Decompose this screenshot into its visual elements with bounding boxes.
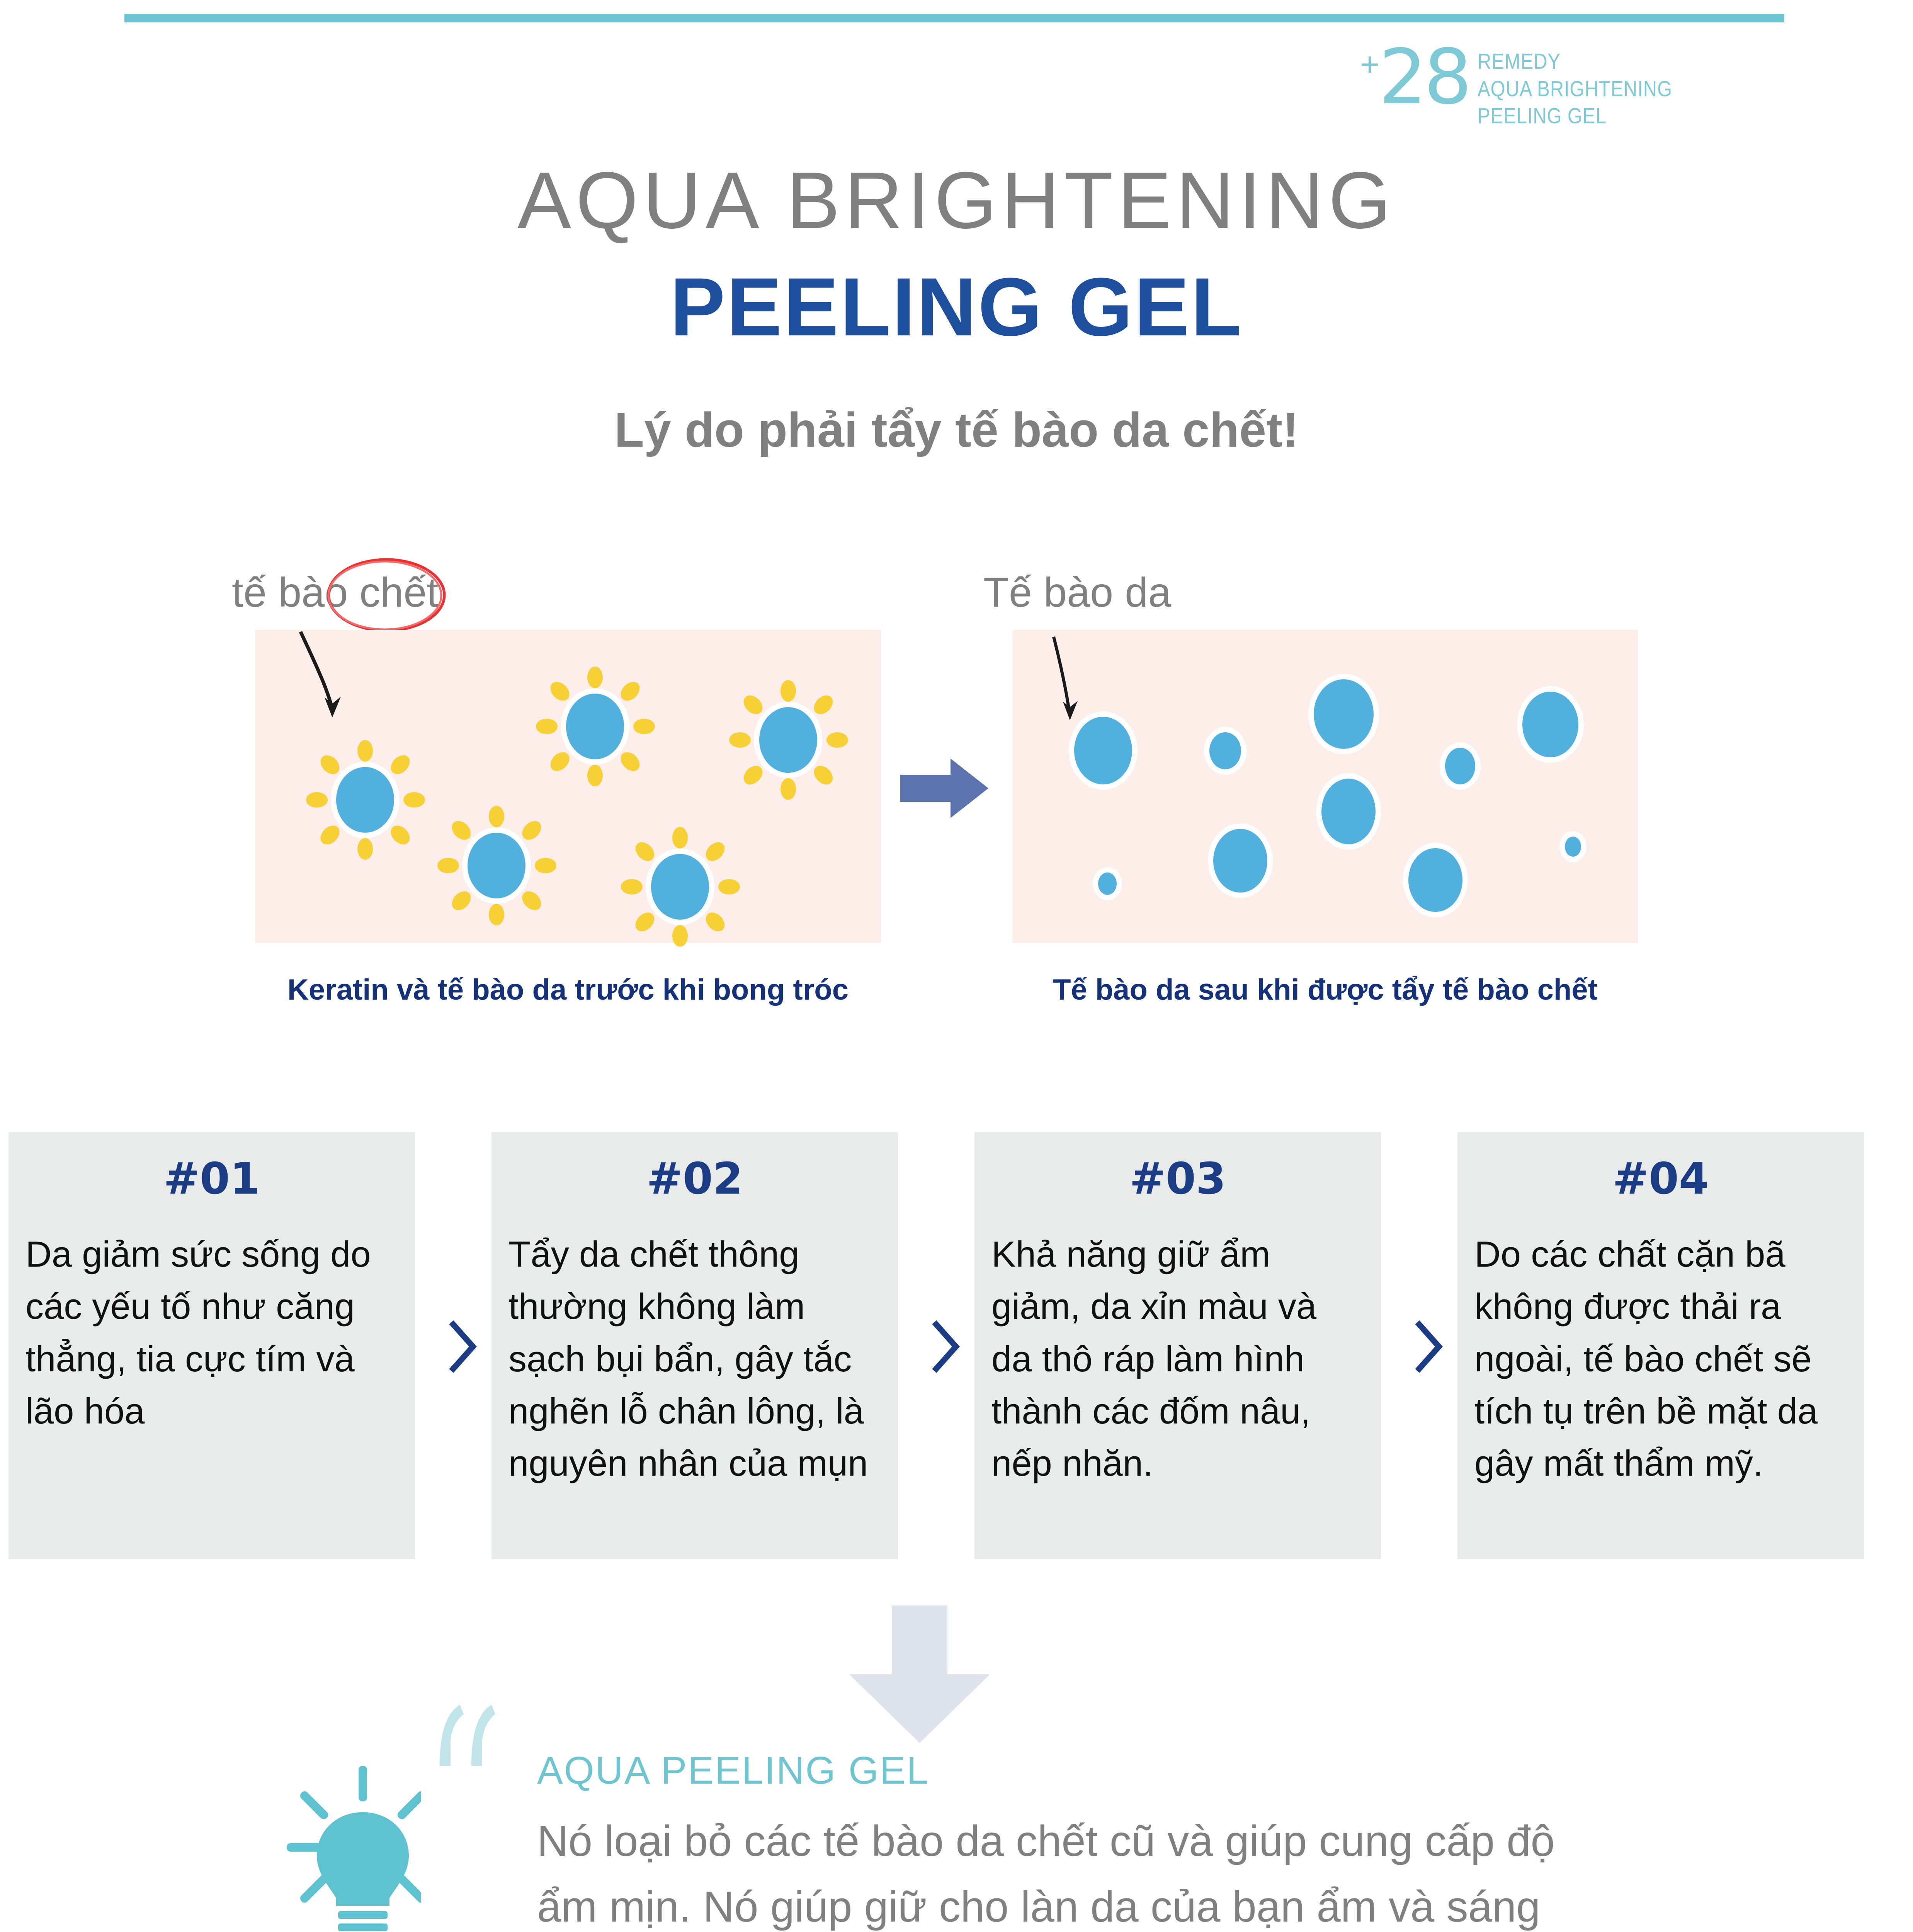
quote-open-icon	[428, 1700, 505, 1777]
reason-card: #02 Tẩy da chết thông thường không làm s…	[491, 1132, 898, 1559]
brand-line-aqua-brightening: AQUA BRIGHTENING	[1478, 75, 1672, 103]
chevron-right-icon	[444, 1318, 479, 1376]
reason-card-text: Da giảm sức sống do các yếu tố như căng …	[26, 1228, 398, 1437]
reason-card-number: #03	[991, 1154, 1364, 1204]
reason-card-number: #04	[1474, 1154, 1847, 1204]
brand-text-lines: REMEDY AQUA BRIGHTENING PEELING GEL	[1478, 48, 1704, 130]
infographic-page: + 28 REMEDY AQUA BRIGHTENING PEELING GEL…	[0, 0, 1913, 1932]
transition-right-arrow-icon	[900, 755, 989, 821]
reason-card-text: Tẩy da chết thông thường không làm sạch …	[508, 1228, 881, 1490]
pointer-arrow-icon	[1045, 634, 1095, 723]
brand-plus-sign: +	[1360, 48, 1379, 81]
reason-card-list: #01 Da giảm sức sống do các yếu tố như c…	[9, 1132, 1904, 1561]
down-arrow-icon	[846, 1605, 993, 1745]
chevron-right-icon	[927, 1318, 962, 1376]
panel-label-dead-cells: tế bào chết	[232, 568, 438, 616]
reason-card: #01 Da giảm sức sống do các yếu tố như c…	[9, 1132, 415, 1559]
reason-card-number: #01	[26, 1154, 398, 1204]
reason-card-number: #02	[508, 1154, 881, 1204]
reason-card-text: Do các chất cặn bã không được thải ra ng…	[1474, 1228, 1847, 1490]
diagram-panel-after	[1012, 630, 1638, 943]
brand-number: 28	[1379, 43, 1469, 112]
reason-card: #04 Do các chất cặn bã không được thải r…	[1457, 1132, 1864, 1559]
panel-caption-before: Keratin và tế bào da trước khi bong tróc	[255, 973, 881, 1007]
chevron-right-icon	[1410, 1318, 1445, 1376]
top-accent-rule	[124, 14, 1784, 22]
reason-card-text: Khả năng giữ ẩm giảm, da xỉn màu và da t…	[991, 1228, 1364, 1490]
page-title-line2: PEELING GEL	[0, 260, 1913, 355]
pointer-arrow-icon	[294, 628, 359, 721]
reason-card: #03 Khả năng giữ ẩm giảm, da xỉn màu và …	[974, 1132, 1381, 1559]
conclusion-body: Nó loại bỏ các tế bào da chết cũ và giúp…	[537, 1808, 1573, 1932]
panel-caption-after: Tế bào da sau khi được tẩy tế bào chết	[1012, 973, 1638, 1007]
brand-line-remedy: REMEDY	[1478, 48, 1672, 75]
conclusion-title: AQUA PEELING GEL	[537, 1748, 929, 1793]
brand-logo: + 28 REMEDY AQUA BRIGHTENING PEELING GEL	[1360, 43, 1770, 124]
lightbulb-icon	[267, 1750, 421, 1932]
page-title-line1: AQUA BRIGHTENING	[0, 155, 1913, 247]
brand-line-peeling-gel: PEELING GEL	[1478, 102, 1672, 130]
page-tagline: Lý do phải tẩy tế bào da chết!	[0, 402, 1913, 458]
panel-label-skin-cells: Tế bào da	[983, 568, 1171, 616]
